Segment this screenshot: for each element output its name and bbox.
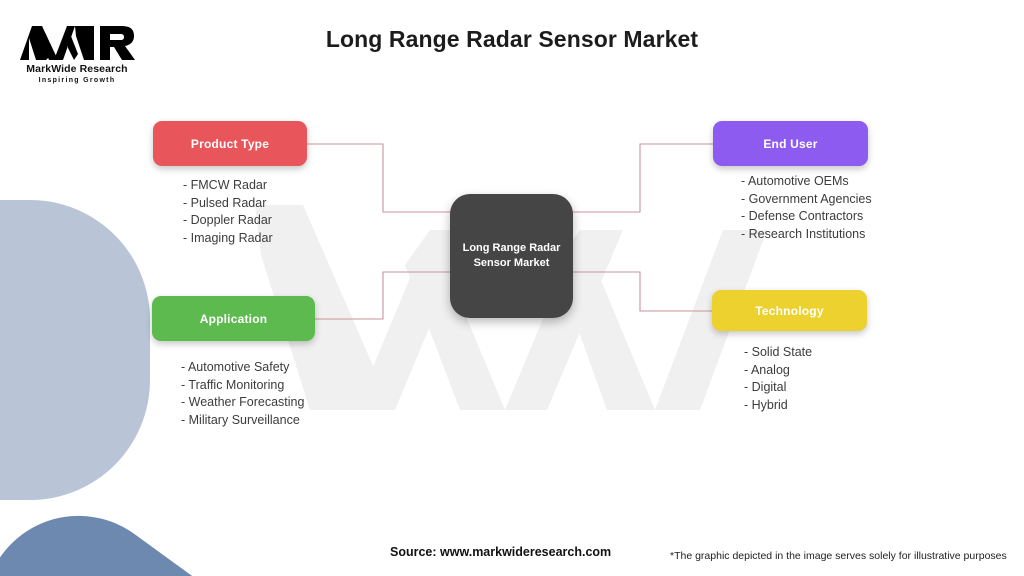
node-application[interactable]: Application <box>152 296 315 341</box>
node-end-user-label: End User <box>763 137 817 151</box>
list-item: - Automotive Safety <box>181 359 304 377</box>
list-item: - Digital <box>744 379 812 397</box>
center-node-label: Long Range Radar Sensor Market <box>463 241 561 271</box>
node-product-type[interactable]: Product Type <box>153 121 307 166</box>
center-node-line1: Long Range Radar <box>463 242 561 254</box>
list-technology: - Solid State - Analog - Digital - Hybri… <box>744 344 812 414</box>
center-node[interactable]: Long Range Radar Sensor Market <box>450 194 573 318</box>
list-item: - Analog <box>744 362 812 380</box>
list-end-user: - Automotive OEMs - Government Agencies … <box>741 173 872 243</box>
list-item: - Traffic Monitoring <box>181 377 304 395</box>
list-item: - Research Institutions <box>741 226 872 244</box>
list-item: - Government Agencies <box>741 191 872 209</box>
list-item: - Military Surveillance <box>181 412 304 430</box>
source-text: Source: www.markwideresearch.com <box>390 545 611 559</box>
list-item: - Pulsed Radar <box>183 195 273 213</box>
list-item: - Solid State <box>744 344 812 362</box>
list-item: - Automotive OEMs <box>741 173 872 191</box>
infographic-canvas: MarkWide Research Inspiring Growth Long … <box>0 0 1024 576</box>
list-item: - Doppler Radar <box>183 212 273 230</box>
list-item: - Defense Contractors <box>741 208 872 226</box>
disclaimer-text: *The graphic depicted in the image serve… <box>670 550 1007 562</box>
node-end-user[interactable]: End User <box>713 121 868 166</box>
list-item: - Hybrid <box>744 397 812 415</box>
node-product-type-label: Product Type <box>191 137 269 151</box>
node-application-label: Application <box>200 312 268 326</box>
list-product-type: - FMCW Radar - Pulsed Radar - Doppler Ra… <box>183 177 273 247</box>
list-application: - Automotive Safety - Traffic Monitoring… <box>181 359 304 429</box>
list-item: - Weather Forecasting <box>181 394 304 412</box>
list-item: - Imaging Radar <box>183 230 273 248</box>
center-node-line2: Sensor Market <box>474 257 550 269</box>
node-technology-label: Technology <box>755 304 823 318</box>
list-item: - FMCW Radar <box>183 177 273 195</box>
node-technology[interactable]: Technology <box>712 290 867 331</box>
